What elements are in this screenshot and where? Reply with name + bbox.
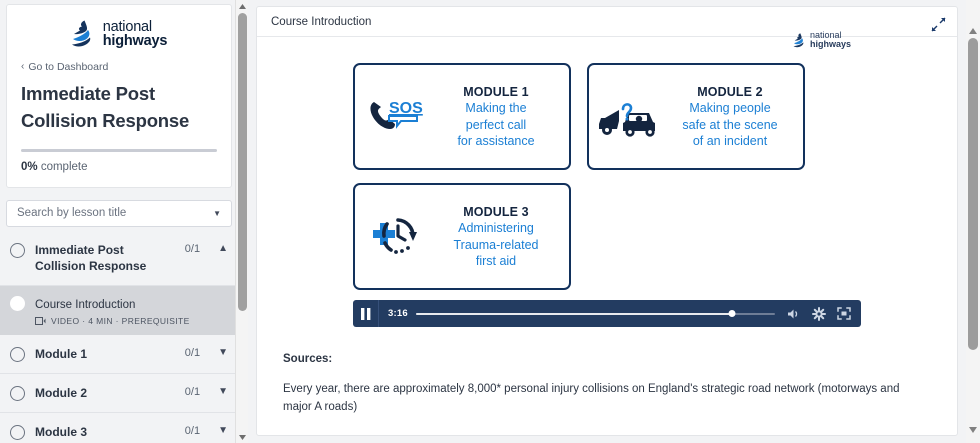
video-controls-right [775,307,861,321]
module-card-3-line-2: Trauma-related [431,237,561,254]
fullscreen-icon[interactable] [837,307,851,321]
progress-complete-word: complete [41,161,88,173]
module-card-1-line-1: Making the [431,100,561,117]
lesson-status-dot-icon [10,296,25,311]
video-seek-slider[interactable] [416,300,775,327]
video-controls-bar: 3:16 [353,300,861,327]
module-card-3-line-1: Administering [431,220,561,237]
seek-handle[interactable] [728,310,735,317]
section-status-circle-icon [10,425,25,440]
section-title: Module 3 [35,424,175,440]
sources-heading: Sources: [283,353,931,365]
logo-line-2: highways [103,34,167,49]
video-icon [35,317,46,325]
pause-icon[interactable] [353,300,379,327]
sidebar-section-immediate-post-collision-response[interactable]: Immediate Post Collision Response 0/1 ▲ [0,231,240,286]
lesson-list: Immediate Post Collision Response 0/1 ▲ … [0,231,240,443]
car-collision-question-icon [595,93,661,141]
sources-footnote-text: *7,862 avg. from 2016-2021 [283,435,429,436]
chevron-down-icon: ▼ [213,209,221,218]
main-scrollbar-thumb[interactable] [968,38,978,350]
search-input[interactable]: Search by lesson title ▼ [6,200,232,227]
lesson-meta-text: VIDEO · 4 MIN · PREREQUISITE [51,316,190,326]
section-status-circle-icon [10,347,25,362]
main-scroll-down-arrow-icon[interactable] [966,423,980,437]
section-status-circle-icon [10,386,25,401]
expand-icon[interactable] [929,15,947,33]
sources-body: Every year, there are approximately 8,00… [283,381,931,417]
lesson-content-card: Course Introduction [256,6,958,436]
sidebar-section-module-3[interactable]: Module 3 0/1 ▼ [0,413,240,443]
module-card-1: SOS MODULE 1 Making the perfect call for… [353,63,571,170]
svg-text:SOS: SOS [389,100,423,117]
sources-footnote: *7,862 avg. from 2016-2021 STATS19 [283,433,931,436]
module-card-3-title: MODULE 3 [431,204,561,221]
chevron-down-icon[interactable]: ▼ [218,386,228,397]
course-summary-card: national highways ‹ Go to Dashboard Imme… [6,4,232,188]
section-count: 0/1 [185,243,200,255]
video-current-time: 3:16 [379,308,416,319]
breadcrumb: Course Introduction [271,16,371,28]
section-count: 0/1 [185,425,200,437]
module-card-2-title: MODULE 2 [665,84,795,101]
lesson-meta: VIDEO · 4 MIN · PREREQUISITE [35,316,190,326]
section-count: 0/1 [185,347,200,359]
lesson-title: Course Introduction [35,299,135,311]
seek-progress [416,313,732,315]
course-player-app: national highways ‹ Go to Dashboard Imme… [0,0,980,443]
progress-percent: 0% [21,161,38,173]
sos-phone-icon: SOS [361,93,427,141]
module-card-3: MODULE 3 Administering Trauma-related fi… [353,183,571,290]
module-card-1-line-3: for assistance [431,133,561,150]
course-progress-bar [21,149,217,152]
scroll-up-arrow-icon[interactable] [236,0,248,12]
sources-section: Sources: Every year, there are approxima… [257,327,957,436]
chevron-left-icon: ‹ [21,62,24,72]
module-cards-grid: SOS MODULE 1 Making the perfect call for… [353,49,861,296]
section-status-circle-icon [10,243,25,258]
section-title: Module 2 [35,385,175,401]
search-placeholder: Search by lesson title [17,207,126,219]
national-highways-logo-icon [71,19,97,49]
sidebar-section-module-2[interactable]: Module 2 0/1 ▼ [0,374,240,413]
go-to-dashboard-label: Go to Dashboard [28,61,108,73]
watermark-logo-icon [793,32,807,49]
video-player[interactable]: SOS MODULE 1 Making the perfect call for… [257,37,957,327]
stats19-link[interactable]: STATS19 [429,435,477,436]
video-stage: SOS MODULE 1 Making the perfect call for… [353,49,861,327]
page-title: Immediate Post Collision Response [21,81,217,135]
module-card-1-line-2: perfect call [431,117,561,134]
module-card-3-text: MODULE 3 Administering Trauma-related fi… [431,204,561,270]
volume-icon[interactable] [787,307,801,321]
chevron-down-icon[interactable]: ▼ [218,347,228,358]
brand-logo: national highways [21,15,217,59]
module-card-2-text: MODULE 2 Making people safe at the scene… [665,84,795,150]
module-card-1-title: MODULE 1 [431,84,561,101]
watermark-line-2: highways [810,40,851,49]
video-watermark-logo: national highways [793,31,851,49]
section-count: 0/1 [185,386,200,398]
sidebar-section-module-1[interactable]: Module 1 0/1 ▼ [0,335,240,374]
chevron-down-icon[interactable]: ▼ [218,425,228,436]
section-title: Immediate Post Collision Response [35,242,175,274]
scroll-down-arrow-icon[interactable] [236,431,248,443]
module-card-1-text: MODULE 1 Making the perfect call for ass… [431,84,561,150]
module-card-2-line-2: safe at the scene [665,117,795,134]
go-to-dashboard-link[interactable]: ‹ Go to Dashboard [21,61,217,73]
module-card-3-line-3: first aid [431,253,561,270]
course-progress-label: 0% complete [21,161,217,173]
section-title: Module 1 [35,346,175,362]
module-card-2: MODULE 2 Making people safe at the scene… [587,63,805,170]
main-scroll-up-arrow-icon[interactable] [966,24,980,38]
list-item-course-introduction[interactable]: Course Introduction VIDEO · 4 MIN · PRER… [0,286,240,335]
sidebar-scroll-content: national highways ‹ Go to Dashboard Imme… [0,0,240,443]
chevron-up-icon[interactable]: ▲ [218,243,228,254]
gear-icon[interactable] [812,307,826,321]
sidebar-scrollbar-thumb[interactable] [238,13,247,311]
main-scrollbar[interactable] [966,0,980,443]
medical-clock-icon [361,214,427,260]
main-content: Course Introduction [248,0,980,443]
module-card-2-line-1: Making people [665,100,795,117]
content-header: Course Introduction [257,7,957,37]
course-sidebar: national highways ‹ Go to Dashboard Imme… [0,0,248,443]
sidebar-scrollbar[interactable] [235,0,248,443]
module-card-2-line-3: of an incident [665,133,795,150]
logo-line-1: national [103,20,167,35]
